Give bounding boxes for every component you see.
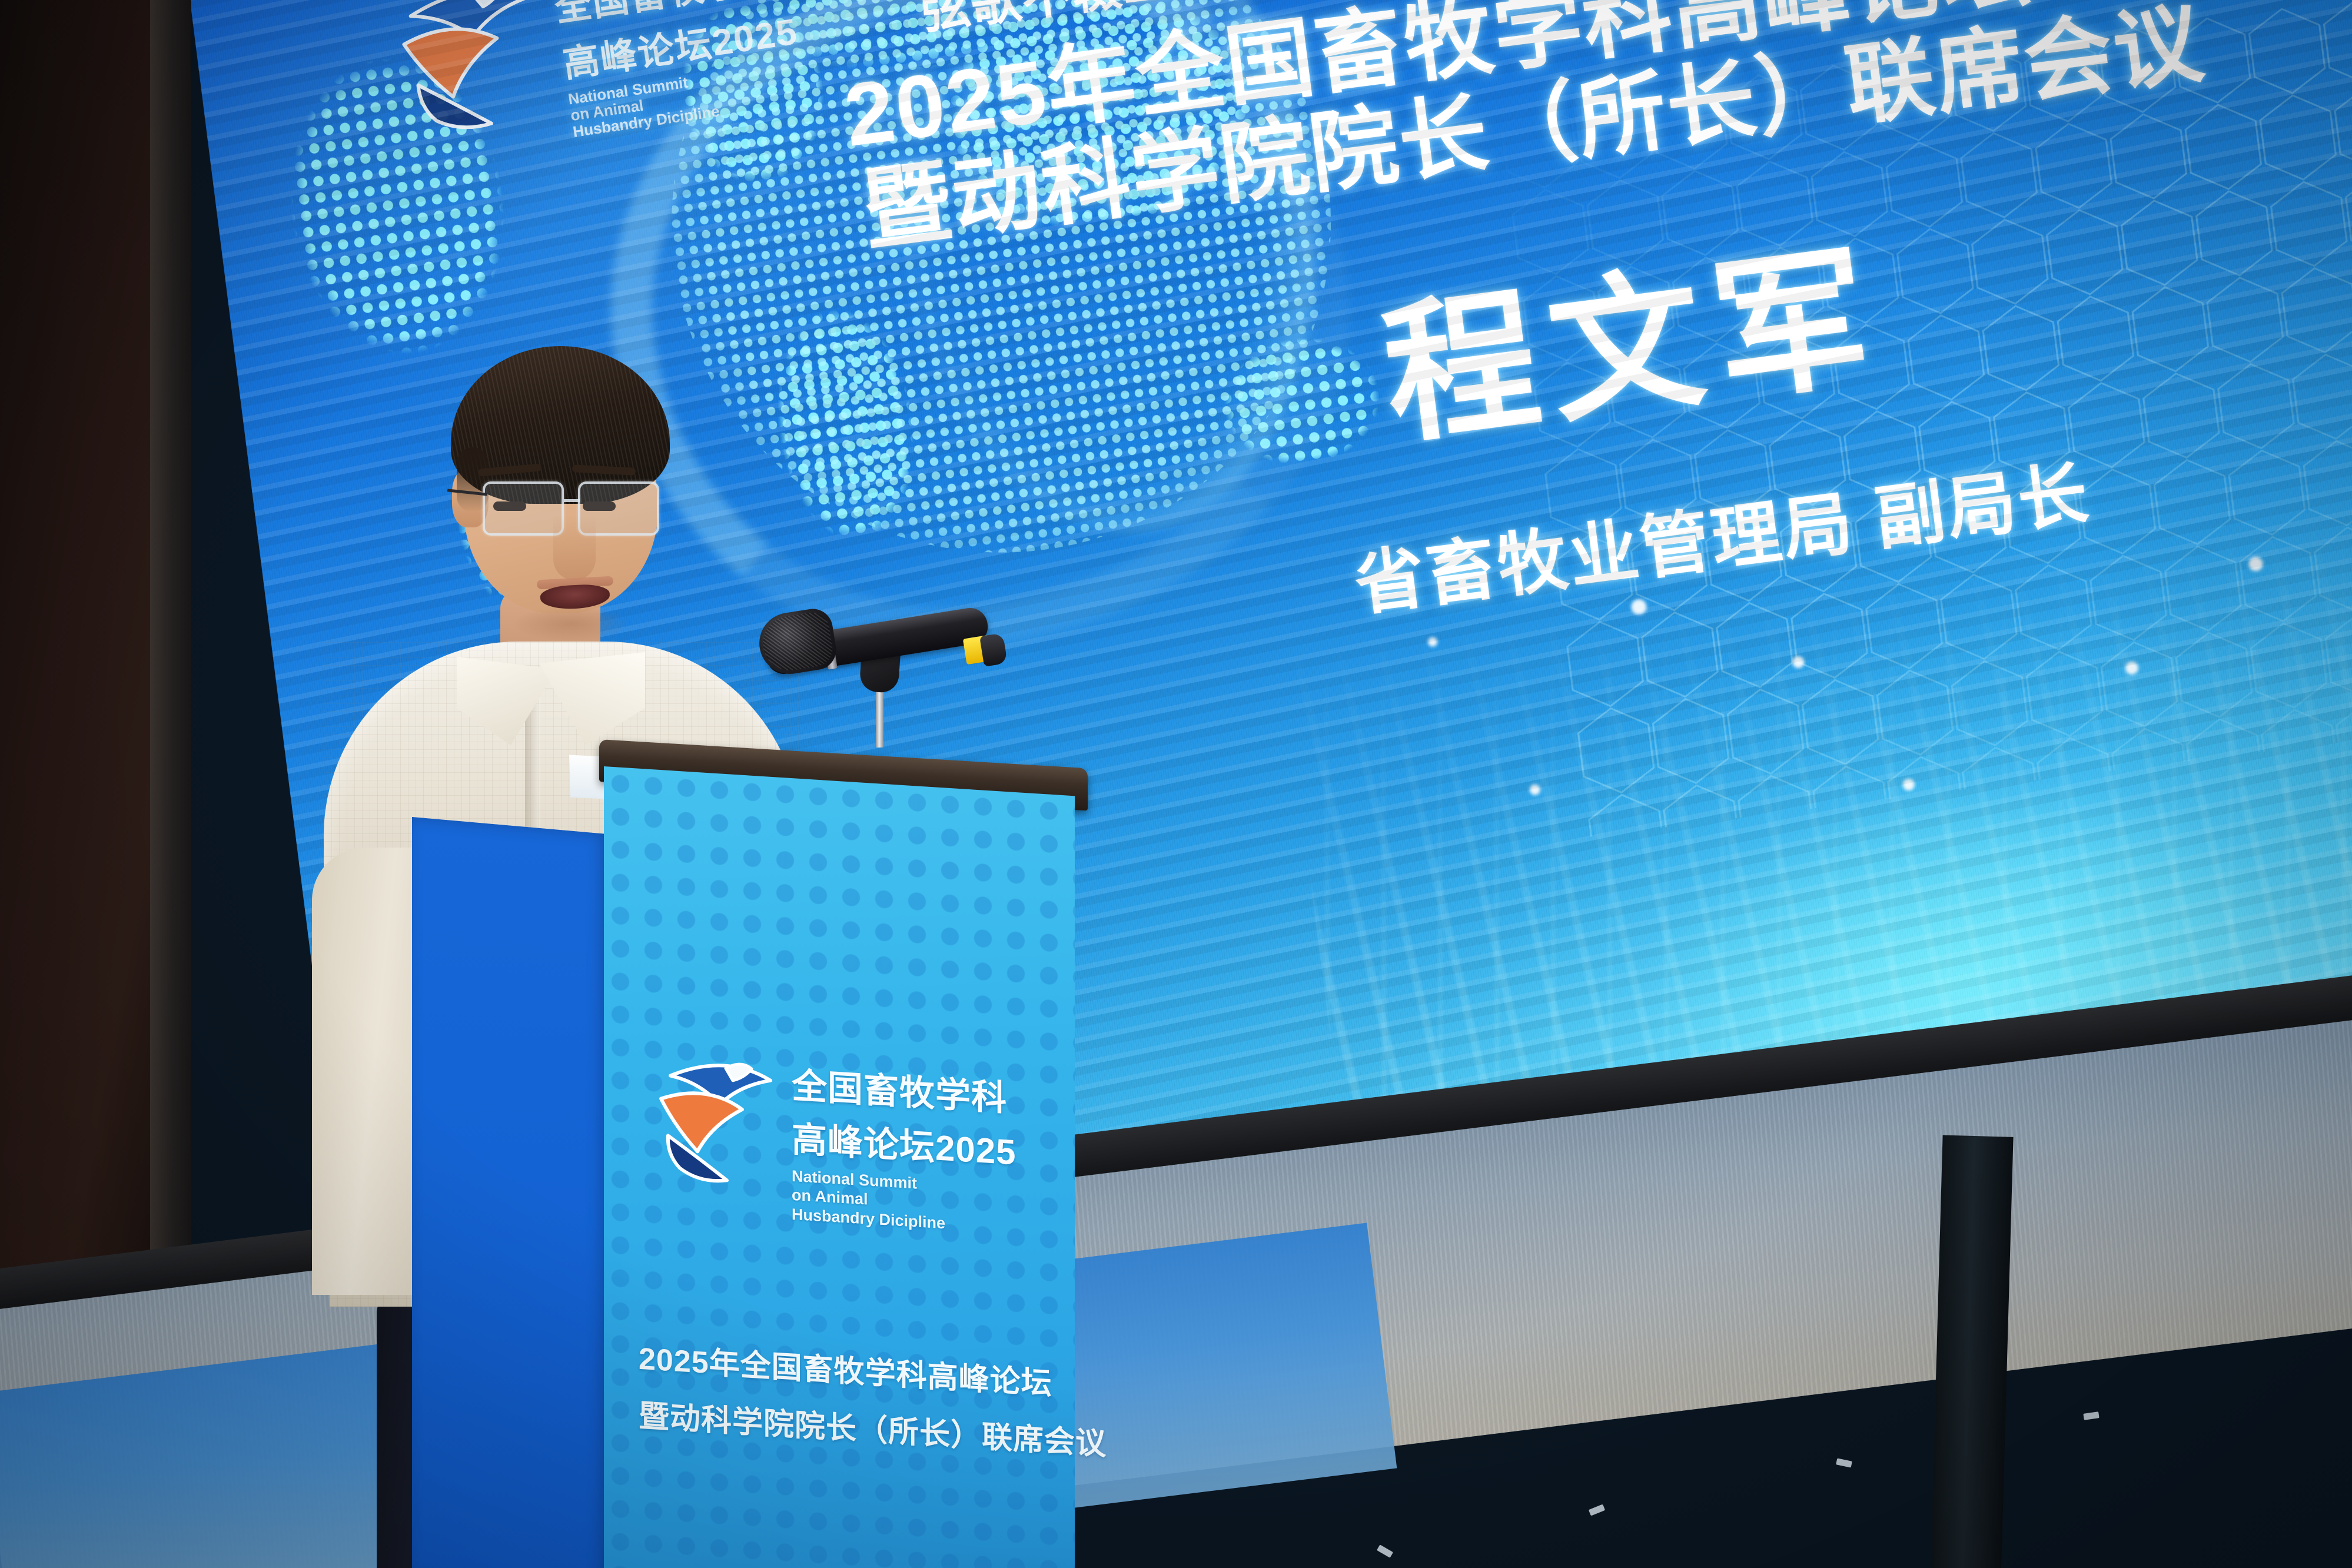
lectern-event-logo: 全国畜牧学科 高峰论坛2025 National Summit on Anima… [650, 1049, 1015, 1206]
floor-debris [1377, 1544, 1393, 1558]
animal-arc-logo-icon [383, 0, 563, 148]
floor-debris [1836, 1458, 1852, 1467]
lectern-logo-cn-line2: 高峰论坛2025 [792, 1111, 1016, 1175]
lectern: 全国畜牧学科 高峰论坛2025 National Summit on Anima… [412, 783, 1130, 1568]
right-pillar [1930, 1135, 2013, 1568]
floor-debris [1589, 1504, 1605, 1516]
presenter-nose [553, 516, 596, 580]
glasses-lens-left [483, 481, 564, 536]
lectern-side-panel [412, 817, 606, 1568]
glasses-bridge [564, 499, 580, 502]
animal-arc-logo-icon [650, 1049, 786, 1192]
conference-stage-scene: 全国畜牧学科 高峰论坛2025 National Summit on Anima… [0, 0, 2352, 1568]
presenter-chin-shadow [512, 606, 630, 642]
left-dark-wall [0, 0, 171, 1436]
floor-debris [2083, 1411, 2099, 1420]
left-wall-edge [150, 0, 191, 1424]
